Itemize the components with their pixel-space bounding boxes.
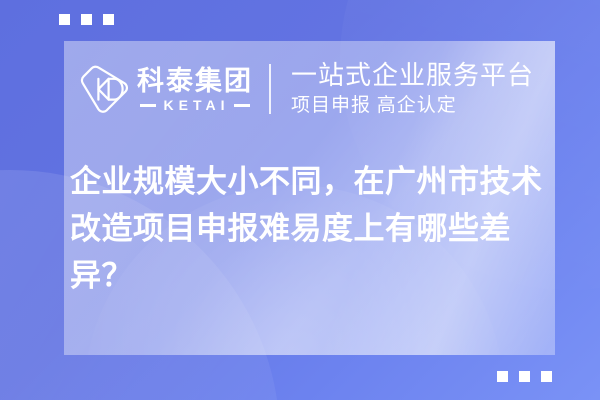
banner-header: 科泰集团 KETAI 一站式企业服务平台 项目申报 高企认定 bbox=[72, 49, 534, 129]
decorative-square-icon bbox=[519, 371, 530, 382]
decorative-square-icon bbox=[541, 371, 552, 382]
decorative-dots-top-left bbox=[59, 14, 114, 25]
slogan-block: 一站式企业服务平台 项目申报 高企认定 bbox=[291, 60, 534, 118]
decorative-square-icon bbox=[497, 371, 508, 382]
promo-banner: 科泰集团 KETAI 一站式企业服务平台 项目申报 高企认定 企业规模大小不同，… bbox=[0, 0, 600, 400]
ketai-diamond-kd-monogram-icon bbox=[78, 64, 128, 114]
header-divider bbox=[269, 64, 271, 114]
decorative-square-icon bbox=[59, 14, 70, 25]
decorative-square-icon bbox=[81, 14, 92, 25]
logo-rule-left-icon bbox=[140, 104, 156, 107]
decorative-dots-bottom-right bbox=[497, 371, 552, 382]
page-title: 企业规模大小不同，在广州市技术改造项目申报难易度上有哪些差异？ bbox=[70, 158, 570, 299]
decorative-square-icon bbox=[103, 14, 114, 25]
slogan-secondary: 项目申报 高企认定 bbox=[291, 94, 534, 118]
logo-english-row: KETAI bbox=[140, 98, 251, 113]
logo-wordmark: 科泰集团 KETAI bbox=[137, 66, 253, 113]
company-logo[interactable]: 科泰集团 KETAI bbox=[72, 64, 253, 114]
logo-rule-right-icon bbox=[234, 104, 250, 107]
slogan-primary: 一站式企业服务平台 bbox=[291, 60, 534, 90]
logo-company-name-en: KETAI bbox=[161, 98, 230, 113]
logo-company-name-cn: 科泰集团 bbox=[137, 66, 253, 96]
